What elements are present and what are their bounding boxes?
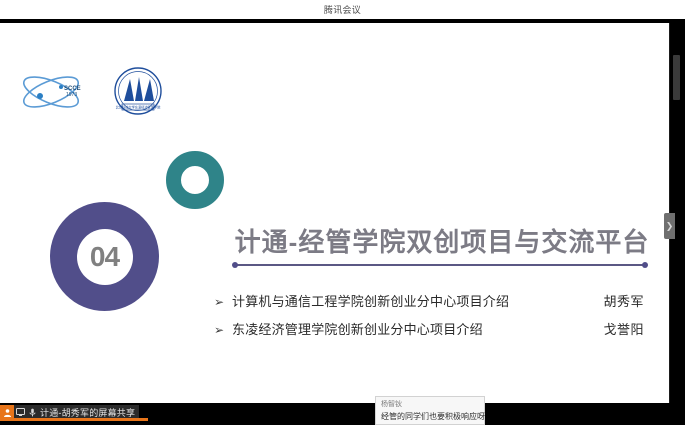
- list-item-text: 计算机与通信工程学院创新创业分中心项目介绍: [232, 291, 566, 310]
- bullet-arrow-icon: ➢: [214, 323, 232, 337]
- slide-logos: SCCE 1973 北京科技大学东凌经济管理学院: [20, 66, 166, 118]
- list-item: ➢ 计算机与通信工程学院创新创业分中心项目介绍 胡秀军: [214, 291, 644, 310]
- screen-share-status[interactable]: 计通-胡秀军的屏幕共享: [0, 405, 139, 419]
- list-item-speaker: 戈誉阳: [566, 319, 644, 338]
- slide-heading: 计通-经管学院双创项目与交流平台: [232, 222, 652, 259]
- scrollbar-thumb[interactable]: [673, 55, 680, 100]
- list-item-speaker: 胡秀军: [566, 291, 644, 310]
- chat-sender-name: 杨智钬: [381, 400, 479, 411]
- shared-screen-stage[interactable]: SCCE 1973 北京科技大学东凌经济管理学院 04 计通-经管学院双创项目与…: [0, 23, 670, 403]
- screen-share-icon[interactable]: [14, 405, 26, 419]
- list-item-text: 东凌经济管理学院创新创业分中心项目介绍: [232, 319, 566, 338]
- svg-text:1973: 1973: [66, 92, 77, 98]
- teal-ring-decoration: [166, 151, 224, 209]
- expand-panel-button[interactable]: ❯: [664, 213, 675, 239]
- heading-underline-rule: [233, 264, 647, 266]
- svg-text:北京科技大学东凌经济管理学院: 北京科技大学东凌经济管理学院: [116, 105, 161, 110]
- list-item: ➢ 东凌经济管理学院创新创业分中心项目介绍 戈誉阳: [214, 319, 644, 338]
- microphone-icon[interactable]: [26, 405, 38, 419]
- section-number: 04: [90, 243, 119, 271]
- scce-atom-logo: SCCE 1973: [20, 71, 82, 113]
- slide-bullet-list: ➢ 计算机与通信工程学院创新创业分中心项目介绍 胡秀军 ➢ 东凌经济管理学院创新…: [214, 291, 644, 347]
- window-title-bar: 腾讯会议: [0, 0, 685, 19]
- section-number-badge: 04: [50, 202, 159, 311]
- chat-message-text: 经管的同学们也要积极响应呀: [381, 411, 479, 423]
- section-number-inner: 04: [77, 229, 133, 285]
- avatar: [0, 405, 14, 419]
- window-title: 腾讯会议: [324, 3, 361, 16]
- bullet-arrow-icon: ➢: [214, 295, 232, 309]
- screen-share-label: 计通-胡秀军的屏幕共享: [40, 406, 135, 419]
- university-seal-logo: 北京科技大学东凌经济管理学院: [110, 66, 166, 118]
